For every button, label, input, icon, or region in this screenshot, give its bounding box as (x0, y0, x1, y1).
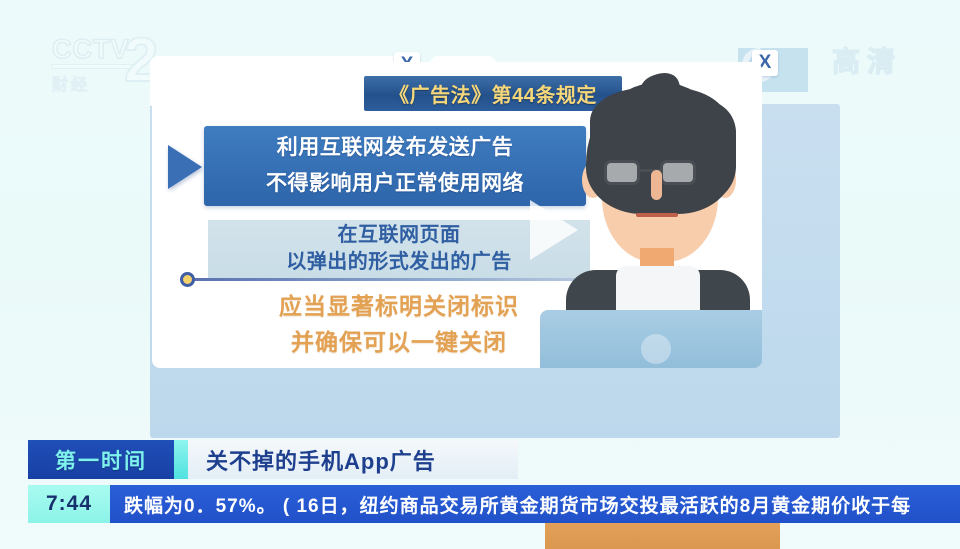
nose (651, 170, 662, 200)
headline-text: 关不掉的手机App广告 (206, 444, 436, 476)
clock-text: 7:44 (46, 492, 92, 516)
ticker-text: 跌幅为0．57%。 ( 16日，纽约商品交易所黄金期货市场交投最活跃的8月黄金期… (124, 491, 911, 518)
lower-third-banner: 第一时间 关不掉的手机App广告 7:44 跌幅为0．57%。 ( 16日，纽约… (0, 440, 960, 549)
news-ticker: 跌幅为0．57%。 ( 16日，纽约商品交易所黄金期货市场交投最活跃的8月黄金期… (110, 485, 960, 523)
program-name-text: 第一时间 (55, 445, 147, 475)
content-card: 《广告法》第44条规定 利用互联网发布发送广告 不得影响用户正常使用网络 在互联… (152, 62, 762, 368)
laptop-icon (540, 310, 762, 368)
statement-primary: 利用互联网发布发送广告 不得影响用户正常使用网络 (204, 126, 586, 206)
statement-primary-line1: 利用互联网发布发送广告 (277, 130, 514, 166)
glasses-lens-left (604, 160, 640, 185)
play-triangle-icon (168, 145, 202, 189)
divider-node-icon (180, 272, 195, 287)
statement-conclusion: 应当显著标明关闭标识 并确保可以一键关闭 (208, 288, 590, 360)
statement-conclusion-line2: 并确保可以一键关闭 (291, 324, 507, 360)
person-illustration (556, 70, 762, 368)
headline-row: 第一时间 关不掉的手机App广告 (28, 440, 518, 479)
divider (186, 278, 590, 281)
broadcast-frame: CCTV 财经 2 高清 ... X (0, 0, 960, 549)
glasses-lens-right (660, 160, 696, 185)
headline-plate: 关不掉的手机App广告 (188, 440, 518, 479)
statement-secondary-line1: 在互联网页面 (338, 222, 461, 249)
orange-accent-bar (545, 523, 780, 549)
mouth (636, 213, 678, 217)
news-graphic: ... X ... X 《广告法》第44条规定 (88, 48, 840, 438)
ticker-row: 7:44 跌幅为0．57%。 ( 16日，纽约商品交易所黄金期货市场交投最活跃的… (28, 485, 960, 523)
statement-secondary-line2: 以弹出的形式发出的广告 (286, 249, 512, 276)
headline-accent-bar (174, 440, 188, 479)
hd-watermark-text: 高清 (832, 46, 902, 77)
hair-side (674, 100, 736, 204)
statement-conclusion-line1: 应当显著标明关闭标识 (279, 288, 519, 324)
clock: 7:44 (28, 485, 110, 523)
program-name-plate: 第一时间 (28, 440, 174, 479)
hd-watermark: 高清 (832, 40, 902, 80)
laptop-logo (641, 334, 671, 364)
statement-primary-line2: 不得影响用户正常使用网络 (266, 166, 524, 202)
